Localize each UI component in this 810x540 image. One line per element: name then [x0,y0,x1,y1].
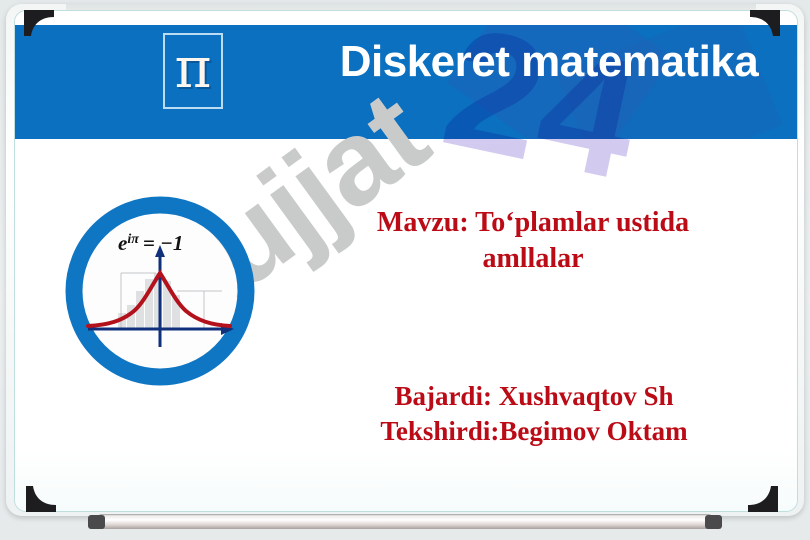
board-corner-clip-bottom-right [746,484,780,514]
euler-identity-emblem: eiπ= −1 [64,195,256,387]
credit-reviewer: Tekshirdi:Begimov Oktam [295,414,773,449]
topic-line-2: amllalar [303,241,763,277]
euler-emblem-svg: eiπ= −1 [64,195,256,387]
page-title: Diskeret matematika [315,39,783,85]
board-corner-clip-top-left [22,8,56,38]
emblem-formula-base: e [118,231,127,255]
pi-symbol-icon: π [175,41,212,97]
whiteboard-frame: π Diskeret matematika 24 Hujjat [6,4,804,516]
emblem-formula-tail: = −1 [143,231,183,255]
credit-author: Bajardi: Xushvaqtov Sh [295,379,773,414]
emblem-formula-exponent: iπ [127,232,139,247]
board-corner-clip-top-right [748,8,782,38]
topic-line-1: Mavzu: To‘plamlar ustida [303,205,763,241]
whiteboard-surface: π Diskeret matematika 24 Hujjat [15,11,797,511]
topic-text: Mavzu: To‘plamlar ustida amllalar [303,205,763,277]
whiteboard-inner-bezel: π Diskeret matematika 24 Hujjat [14,10,798,512]
pi-logo-box: π [163,33,223,109]
credits-text: Bajardi: Xushvaqtov Sh Tekshirdi:Begimov… [295,379,773,449]
board-corner-clip-bottom-left [24,484,58,514]
whiteboard-pen-tray [88,512,722,532]
scene-background: π Diskeret matematika 24 Hujjat [0,0,810,540]
